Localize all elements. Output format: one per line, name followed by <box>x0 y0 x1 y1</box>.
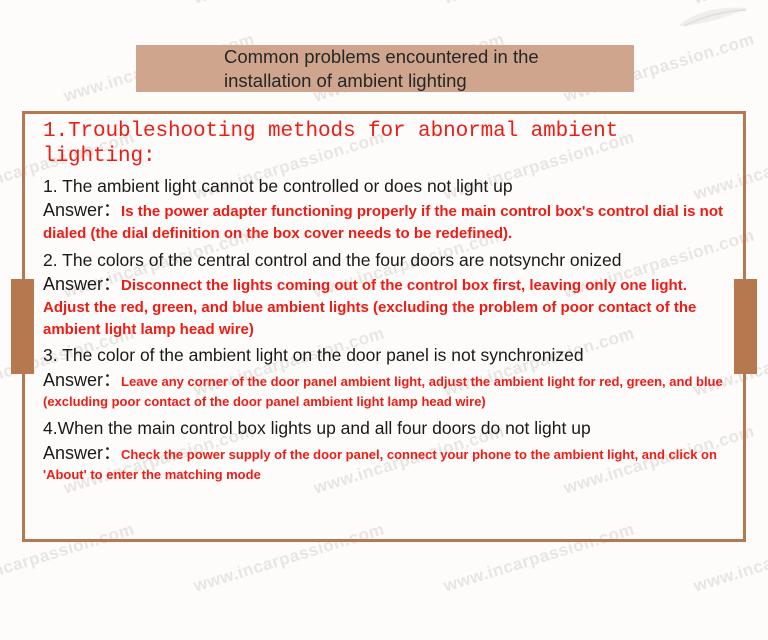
section-heading: 1.Troubleshooting methods for abnormal a… <box>43 120 731 170</box>
answer-line: Answer：Check the power supply of the doo… <box>43 442 731 487</box>
left-tab-stroke-top <box>22 258 25 280</box>
answer-label: Answer： <box>43 274 121 294</box>
qa-item-4: 4.When the main control box lights up an… <box>43 417 731 486</box>
left-accent-tab <box>11 279 34 374</box>
watermark-text: www.incarpassion.com <box>691 0 768 9</box>
right-tab-stroke-bottom <box>743 374 746 398</box>
answer-text: Disconnect the lights coming out of the … <box>43 277 696 338</box>
left-tab-stroke-bottom <box>22 374 25 398</box>
qa-item-1: 1. The ambient light cannot be controlle… <box>43 175 731 245</box>
answer-label: Answer： <box>43 200 121 220</box>
answer-label: Answer： <box>43 370 121 390</box>
watermark-text: www.incarpassion.com <box>0 0 137 9</box>
qa-item-3: 3. The color of the ambient light on the… <box>43 344 731 413</box>
question-text: 3. The color of the ambient light on the… <box>43 344 731 366</box>
answer-text: Check the power supply of the door panel… <box>43 447 717 483</box>
page-title: Common problems encountered in the insta… <box>224 45 604 91</box>
answer-line: Answer：Disconnect the lights coming out … <box>43 273 731 340</box>
right-accent-tab <box>734 279 757 374</box>
watermark-text: www.incarpassion.com <box>191 0 386 9</box>
content-frame: 1.Troubleshooting methods for abnormal a… <box>22 111 746 542</box>
question-text: 4.When the main control box lights up an… <box>43 417 731 439</box>
page-curl-artifact <box>678 4 750 30</box>
answer-text: Leave any corner of the door panel ambie… <box>43 374 723 410</box>
slide-title-band: Common problems encountered in the insta… <box>136 45 634 92</box>
question-text: 2. The colors of the central control and… <box>43 249 731 271</box>
qa-item-2: 2. The colors of the central control and… <box>43 249 731 341</box>
answer-line: Answer：Leave any corner of the door pane… <box>43 369 731 414</box>
content-body: 1.Troubleshooting methods for abnormal a… <box>43 120 731 487</box>
answer-line: Answer：Is the power adapter functioning … <box>43 199 731 245</box>
watermark-text: www.incarpassion.com <box>441 0 636 9</box>
answer-text: Is the power adapter functioning properl… <box>43 203 723 242</box>
right-tab-stroke-top <box>743 258 746 280</box>
question-text: 1. The ambient light cannot be controlle… <box>43 175 731 197</box>
answer-label: Answer： <box>43 443 121 463</box>
